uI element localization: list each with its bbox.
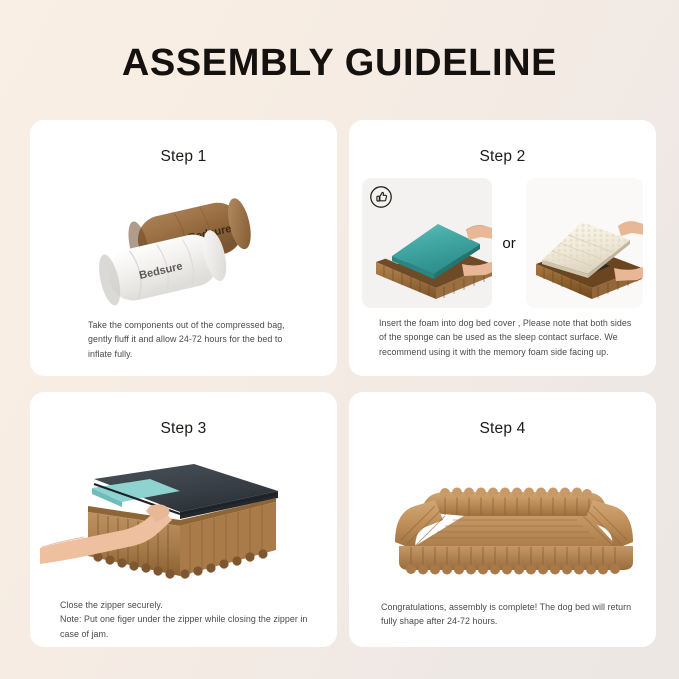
step-card-3: Step 3 — [30, 392, 337, 647]
step-1-caption: Take the components out of the compresse… — [88, 318, 299, 361]
assembly-guideline-page: ASSEMBLY GUIDELINE Step 1 — [0, 0, 679, 679]
step-4-caption: Congratulations, assembly is complete! T… — [381, 600, 636, 629]
step-2-illustrations: or — [362, 178, 643, 308]
step-3-caption: Close the zipper securely. Note: Put one… — [60, 598, 323, 641]
or-separator: or — [498, 235, 520, 252]
step-2-title: Step 2 — [349, 148, 656, 166]
step-card-4: Step 4 — [349, 392, 656, 647]
foam-memory-side-image — [526, 178, 643, 308]
page-title: ASSEMBLY GUIDELINE — [0, 42, 679, 85]
foam-teal-side-image — [362, 178, 492, 308]
compressed-bag-illustration: Bedsure Bedsure — [30, 178, 337, 318]
closing-zipper-illustration — [30, 444, 337, 604]
finished-dog-bed-illustration — [349, 450, 656, 600]
step-1-title: Step 1 — [30, 148, 337, 166]
step-4-title: Step 4 — [349, 420, 656, 438]
steps-grid: Step 1 — [30, 120, 649, 647]
thumbs-up-icon — [369, 185, 393, 209]
step-2-caption: Insert the foam into dog bed cover , Ple… — [379, 316, 640, 359]
step-card-1: Step 1 — [30, 120, 337, 376]
step-card-2: Step 2 — [349, 120, 656, 376]
step-3-title: Step 3 — [30, 420, 337, 438]
